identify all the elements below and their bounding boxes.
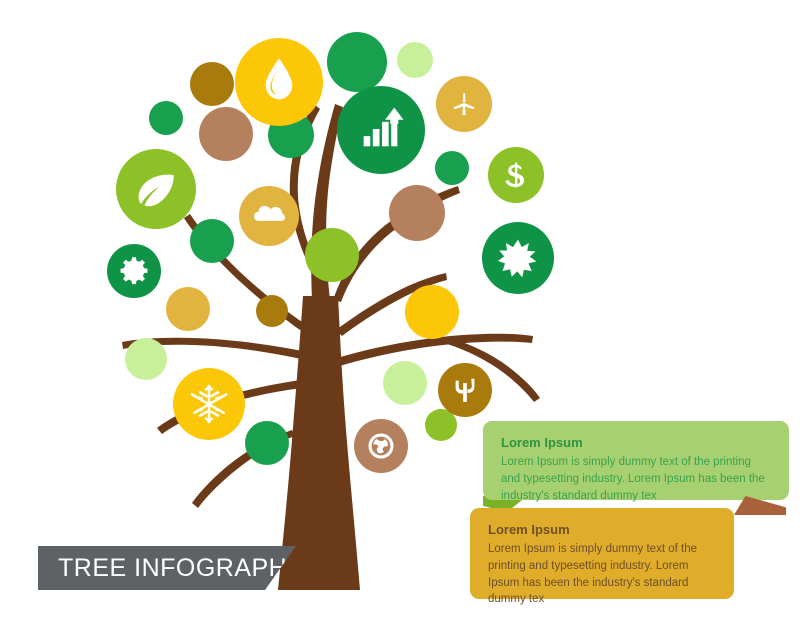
leaf-icon-bg [116, 149, 196, 229]
dot-green-dark-5 [190, 219, 234, 263]
dot-green-light-2 [425, 409, 457, 441]
dot-brown-light-1 [199, 107, 253, 161]
water-drop-icon[interactable] [235, 38, 323, 126]
cactus-icon[interactable] [438, 363, 492, 417]
dot-green-dark-4 [435, 151, 469, 185]
dot-gold-1 [166, 287, 210, 331]
dot-green-dark-2 [149, 101, 183, 135]
dot-green-dark-6 [245, 421, 289, 465]
dot-green-pale-3 [383, 361, 427, 405]
dot-green-pale-2 [125, 338, 167, 380]
dot-brown-light-2 [389, 185, 445, 241]
callout-green-body: Lorem Ipsum is simply dummy text of the … [501, 454, 769, 504]
dot-ochre-2 [256, 295, 288, 327]
infographic-canvas: TREE INFOGRAPHIC Lorem Ipsum Lorem Ipsum… [0, 0, 800, 623]
dot-yellow-1 [405, 285, 459, 339]
dot-green-light-1 [305, 228, 359, 282]
dot-ochre-1 [190, 62, 234, 106]
callout-gold-heading: Lorem Ipsum [488, 522, 716, 538]
callout-gold-body: Lorem Ipsum is simply dummy text of the … [488, 541, 716, 608]
snowflake-icon[interactable] [173, 368, 245, 440]
growth-chart-icon[interactable] [337, 86, 425, 174]
dot-green-pale-1 [397, 42, 433, 78]
callout-gold[interactable]: Lorem Ipsum Lorem Ipsum is simply dummy … [470, 508, 734, 599]
dot-green-dark-1 [327, 32, 387, 92]
callout-green-heading: Lorem Ipsum [501, 435, 771, 451]
title-banner: TREE INFOGRAPHIC [38, 546, 296, 590]
cloud-icon[interactable] [239, 186, 299, 246]
gear-icon-glyph [121, 257, 148, 284]
leaf-icon[interactable] [116, 149, 196, 229]
dollar-icon[interactable] [488, 147, 544, 203]
sun-icon[interactable] [482, 222, 554, 294]
growth-chart-icon-bg [337, 86, 425, 174]
wind-turbine-icon[interactable] [436, 76, 492, 132]
globe-icon[interactable] [354, 419, 408, 473]
page-title: TREE INFOGRAPHIC [38, 554, 313, 583]
callout-green[interactable]: Lorem Ipsum Lorem Ipsum is simply dummy … [483, 421, 789, 500]
gear-icon[interactable] [107, 244, 161, 298]
